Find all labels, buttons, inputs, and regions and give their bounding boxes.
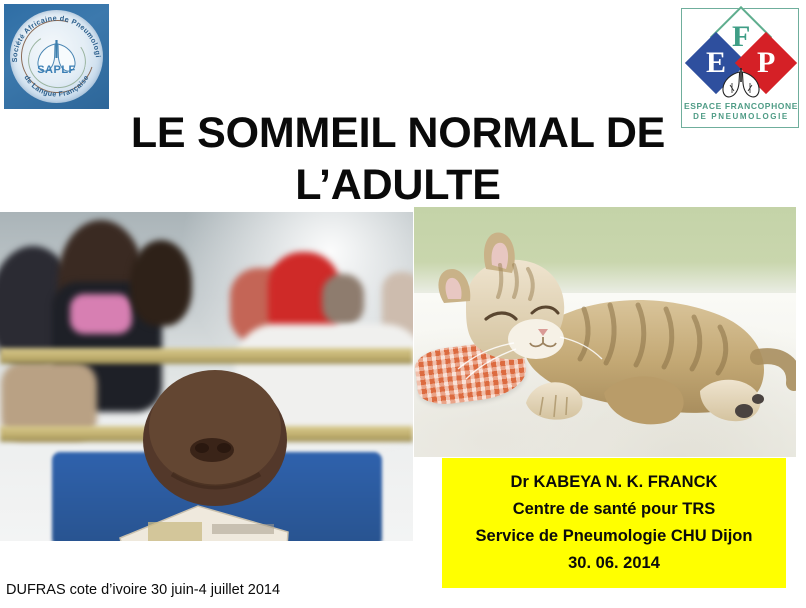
credit-line-date: 30. 06. 2014 [568,551,660,576]
credit-line-service: Service de Pneumologie CHU Dijon [476,524,753,549]
sleeping-face [110,332,320,522]
efp-caption: ESPACE FRANCOPHONE DE PNEUMOLOGIE [682,101,800,121]
efp-letter-f: F [732,22,750,52]
footer-event-note: DUFRAS cote d’ivoire 30 juin-4 juillet 2… [6,582,280,598]
sleeping-cat-photo [414,207,796,457]
newspaper-over-face [78,502,308,541]
page-title-line2: L’ADULTE [113,159,683,211]
saplf-acronym: SAPLF [4,64,109,76]
cat-illustration [414,207,796,457]
saplf-ring-text: Société Africaine de Pneumologie de Lang… [4,4,109,109]
efp-caption-line1: ESPACE FRANCOPHONE [682,101,800,111]
audience-figure [322,274,364,326]
page-title: LE SOMMEIL NORMAL DE L’ADULTE [113,107,683,211]
sleeping-man-photo [0,212,413,541]
efp-caption-line2: DE PNEUMOLOGIE [682,112,800,121]
saplf-ring-text-bottom: de Langue Française [22,73,90,98]
credit-line-presenter: Dr KABEYA N. K. FRANCK [511,470,718,495]
audience-figure [70,294,132,334]
saplf-logo: Société Africaine de Pneumologie de Lang… [4,4,109,109]
presenter-credit-box: Dr KABEYA N. K. FRANCK Centre de santé p… [442,458,786,588]
page-title-line1: LE SOMMEIL NORMAL DE [131,109,665,157]
audience-figure [130,240,192,326]
saplf-ring-text-top: Société Africaine de Pneumologie [4,4,103,62]
efp-logo: F E P ESPACE FRANCOPHONE DE PNEUMOLOGIE [681,8,799,128]
credit-line-center: Centre de santé pour TRS [513,497,716,522]
lungs-icon [718,67,764,99]
